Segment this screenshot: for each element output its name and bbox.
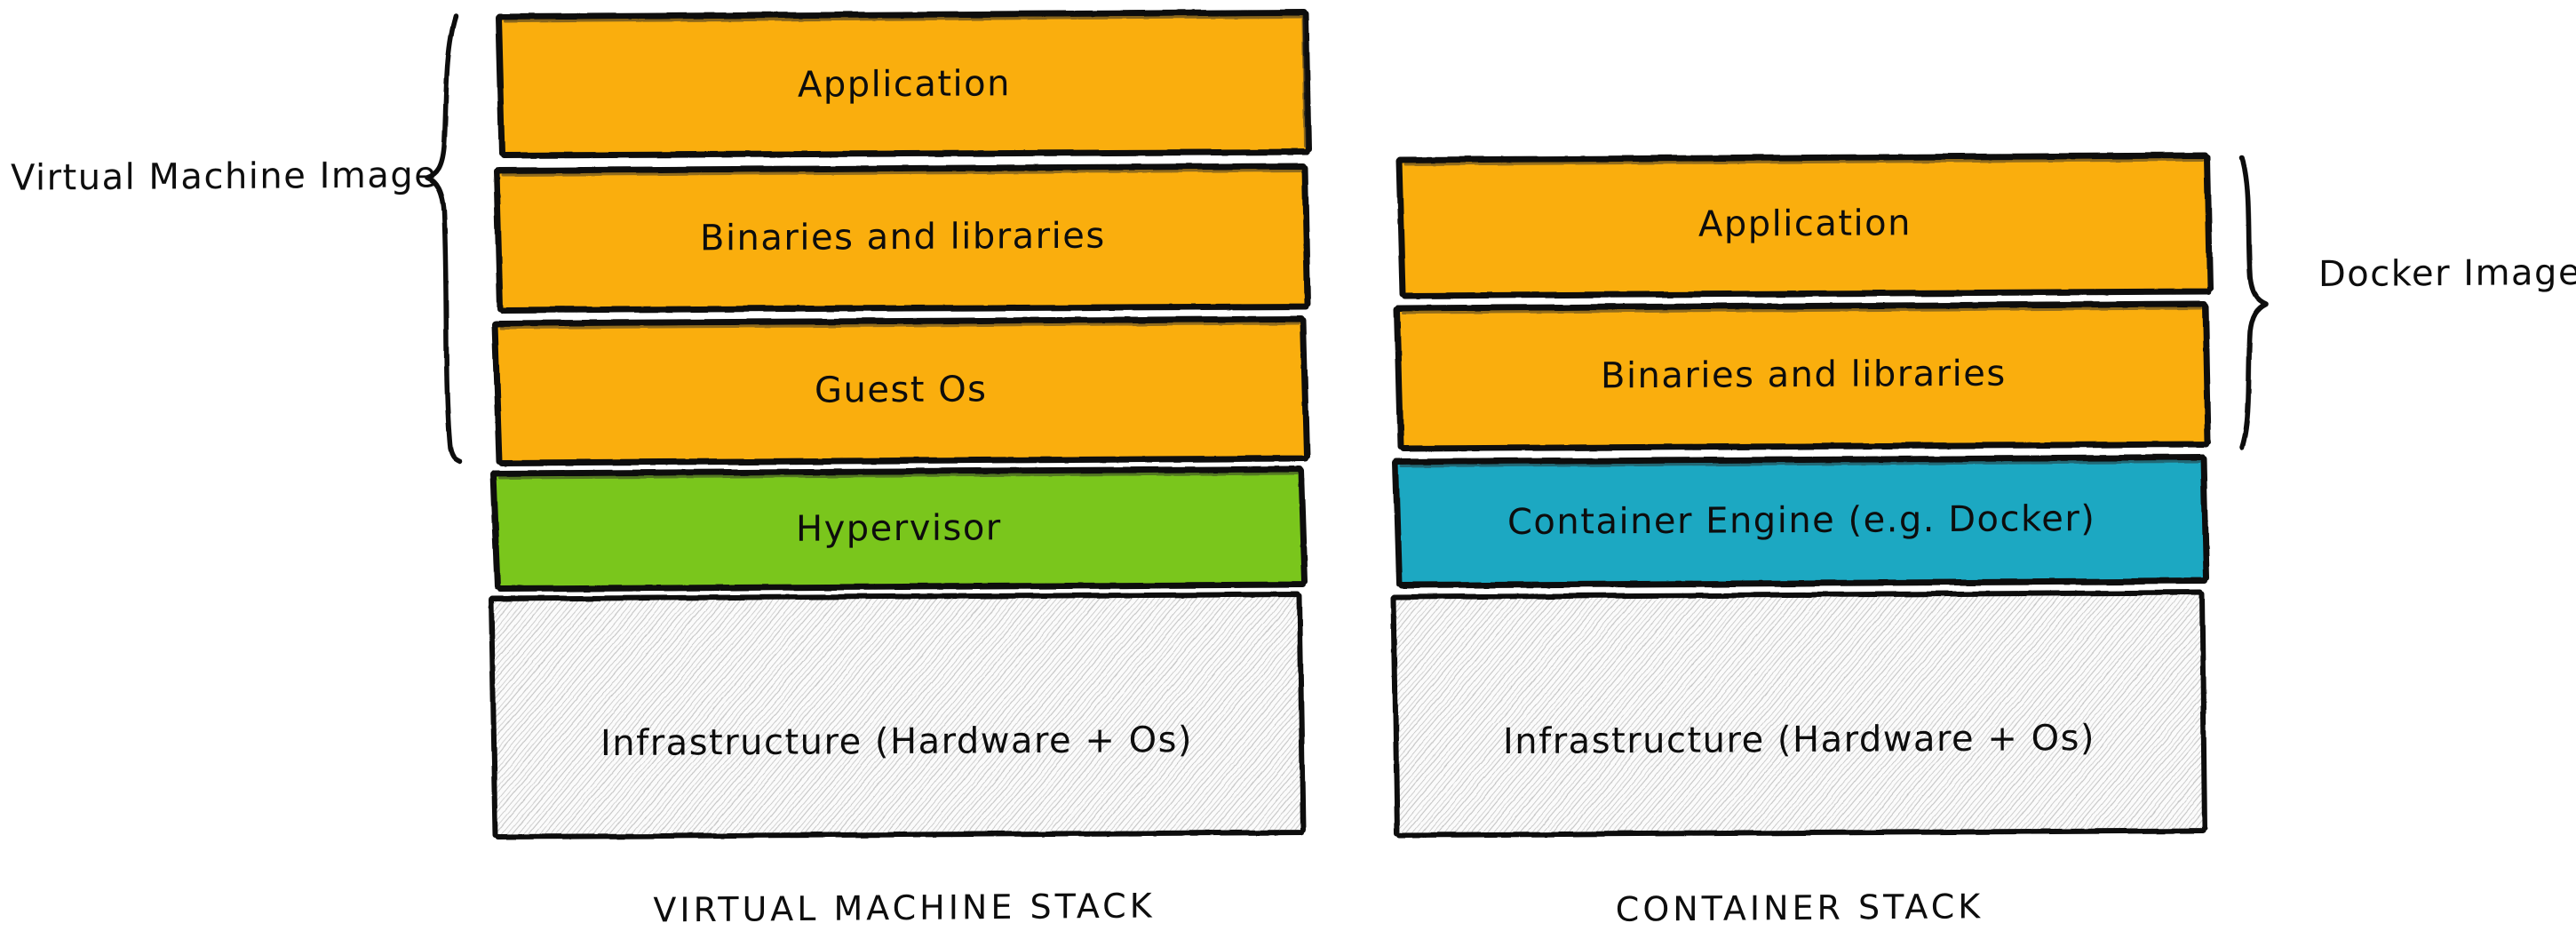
vm-image-brace-label-text: Virtual Machine Image [11,155,437,198]
vm-layer-hypervisor[interactable]: Hypervisor [496,470,1302,586]
vm-layer-application[interactable]: Application [501,15,1308,154]
container-stack-caption-text: CONTAINER STACK [1616,887,1984,929]
container-stack-caption: CONTAINER STACK [1396,885,2203,931]
vm-layer-hypervisor-label: Hypervisor [796,507,1002,549]
vm-layer-guest-os-label: Guest Os [815,369,988,410]
container-layer-infrastructure[interactable]: Infrastructure (Hardware + Os) [1396,593,2203,832]
vm-layer-infrastructure[interactable]: Infrastructure (Hardware + Os) [494,595,1300,833]
docker-image-brace-label: Docker Image [2318,252,2576,295]
container-layer-application[interactable]: Application [1402,156,2208,291]
vm-layer-guest-os[interactable]: Guest Os [497,320,1304,460]
docker-image-brace-label-text: Docker Image [2318,252,2576,295]
vm-layer-application-label: Application [798,63,1011,105]
vm-layer-binaries-label: Binaries and libraries [700,216,1106,259]
container-layer-binaries[interactable]: Binaries and libraries [1400,305,2206,445]
container-layer-infrastructure-label: Infrastructure (Hardware + Os) [1503,718,2095,762]
container-layer-engine-label: Container Engine (e.g. Docker) [1507,497,2095,542]
vm-stack-caption-text: VIRTUAL MACHINE STACK [653,887,1155,930]
container-layer-engine[interactable]: Container Engine (e.g. Docker) [1398,458,2205,582]
diagram-canvas: Application Binaries and libraries Guest… [0,0,2576,947]
vm-layer-infrastructure-label: Infrastructure (Hardware + Os) [600,720,1193,764]
vm-image-brace-label: Virtual Machine Image [11,155,437,198]
container-layer-binaries-label: Binaries and libraries [1601,354,2007,397]
container-layer-application-label: Application [1698,203,1912,244]
vm-stack-caption: VIRTUAL MACHINE STACK [501,885,1308,931]
vm-layer-binaries[interactable]: Binaries and libraries [499,167,1306,307]
